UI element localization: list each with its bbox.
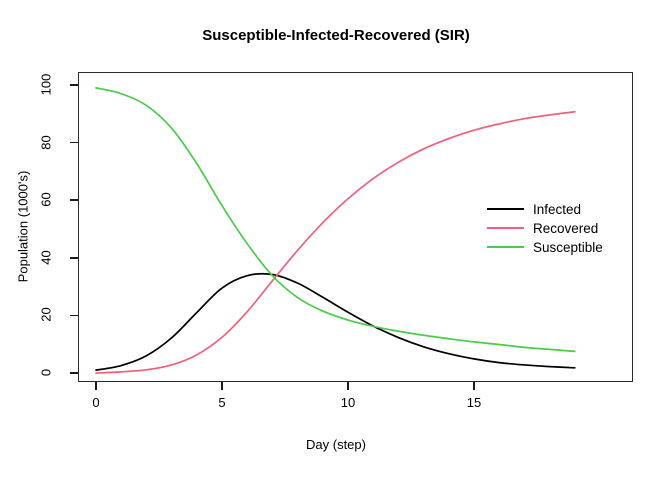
y-axis-tick-label: 20 xyxy=(39,298,54,332)
chart-figure: Susceptible-Infected-Recovered (SIR) 020… xyxy=(0,0,672,480)
y-axis-tick xyxy=(70,84,78,86)
legend-swatch-susceptible xyxy=(487,246,524,248)
y-axis-tick-label: 40 xyxy=(39,240,54,274)
x-axis-label: Day (step) xyxy=(186,437,486,452)
x-axis-tick-label: 0 xyxy=(76,395,116,410)
x-axis-tick xyxy=(347,382,349,390)
legend-swatch-infected xyxy=(487,208,524,210)
legend-label: Infected xyxy=(533,200,581,219)
chart-title: Susceptible-Infected-Recovered (SIR) xyxy=(0,27,672,44)
y-axis-tick-label: 100 xyxy=(39,68,54,102)
x-axis-tick xyxy=(473,382,475,390)
y-axis-tick xyxy=(70,257,78,259)
legend-label: Susceptible xyxy=(533,238,603,257)
series-line-susceptible xyxy=(96,88,575,352)
x-axis-tick xyxy=(221,382,223,390)
series-line-recovered xyxy=(96,112,575,373)
y-axis-tick xyxy=(70,372,78,374)
x-axis-tick-label: 5 xyxy=(202,395,242,410)
y-axis-tick-label: 60 xyxy=(39,183,54,217)
series-line-infected xyxy=(96,274,575,370)
x-axis-tick-label: 10 xyxy=(328,395,368,410)
x-axis-tick xyxy=(95,382,97,390)
y-axis-label: Population (1000's) xyxy=(16,127,31,327)
legend-label: Recovered xyxy=(533,219,598,238)
y-axis-tick xyxy=(70,199,78,201)
y-axis-tick-label: 80 xyxy=(39,125,54,159)
legend-swatch-recovered xyxy=(487,227,524,229)
y-axis-tick xyxy=(70,315,78,317)
x-axis-tick-label: 15 xyxy=(454,395,494,410)
y-axis-tick xyxy=(70,142,78,144)
y-axis-tick-label: 0 xyxy=(39,356,54,390)
